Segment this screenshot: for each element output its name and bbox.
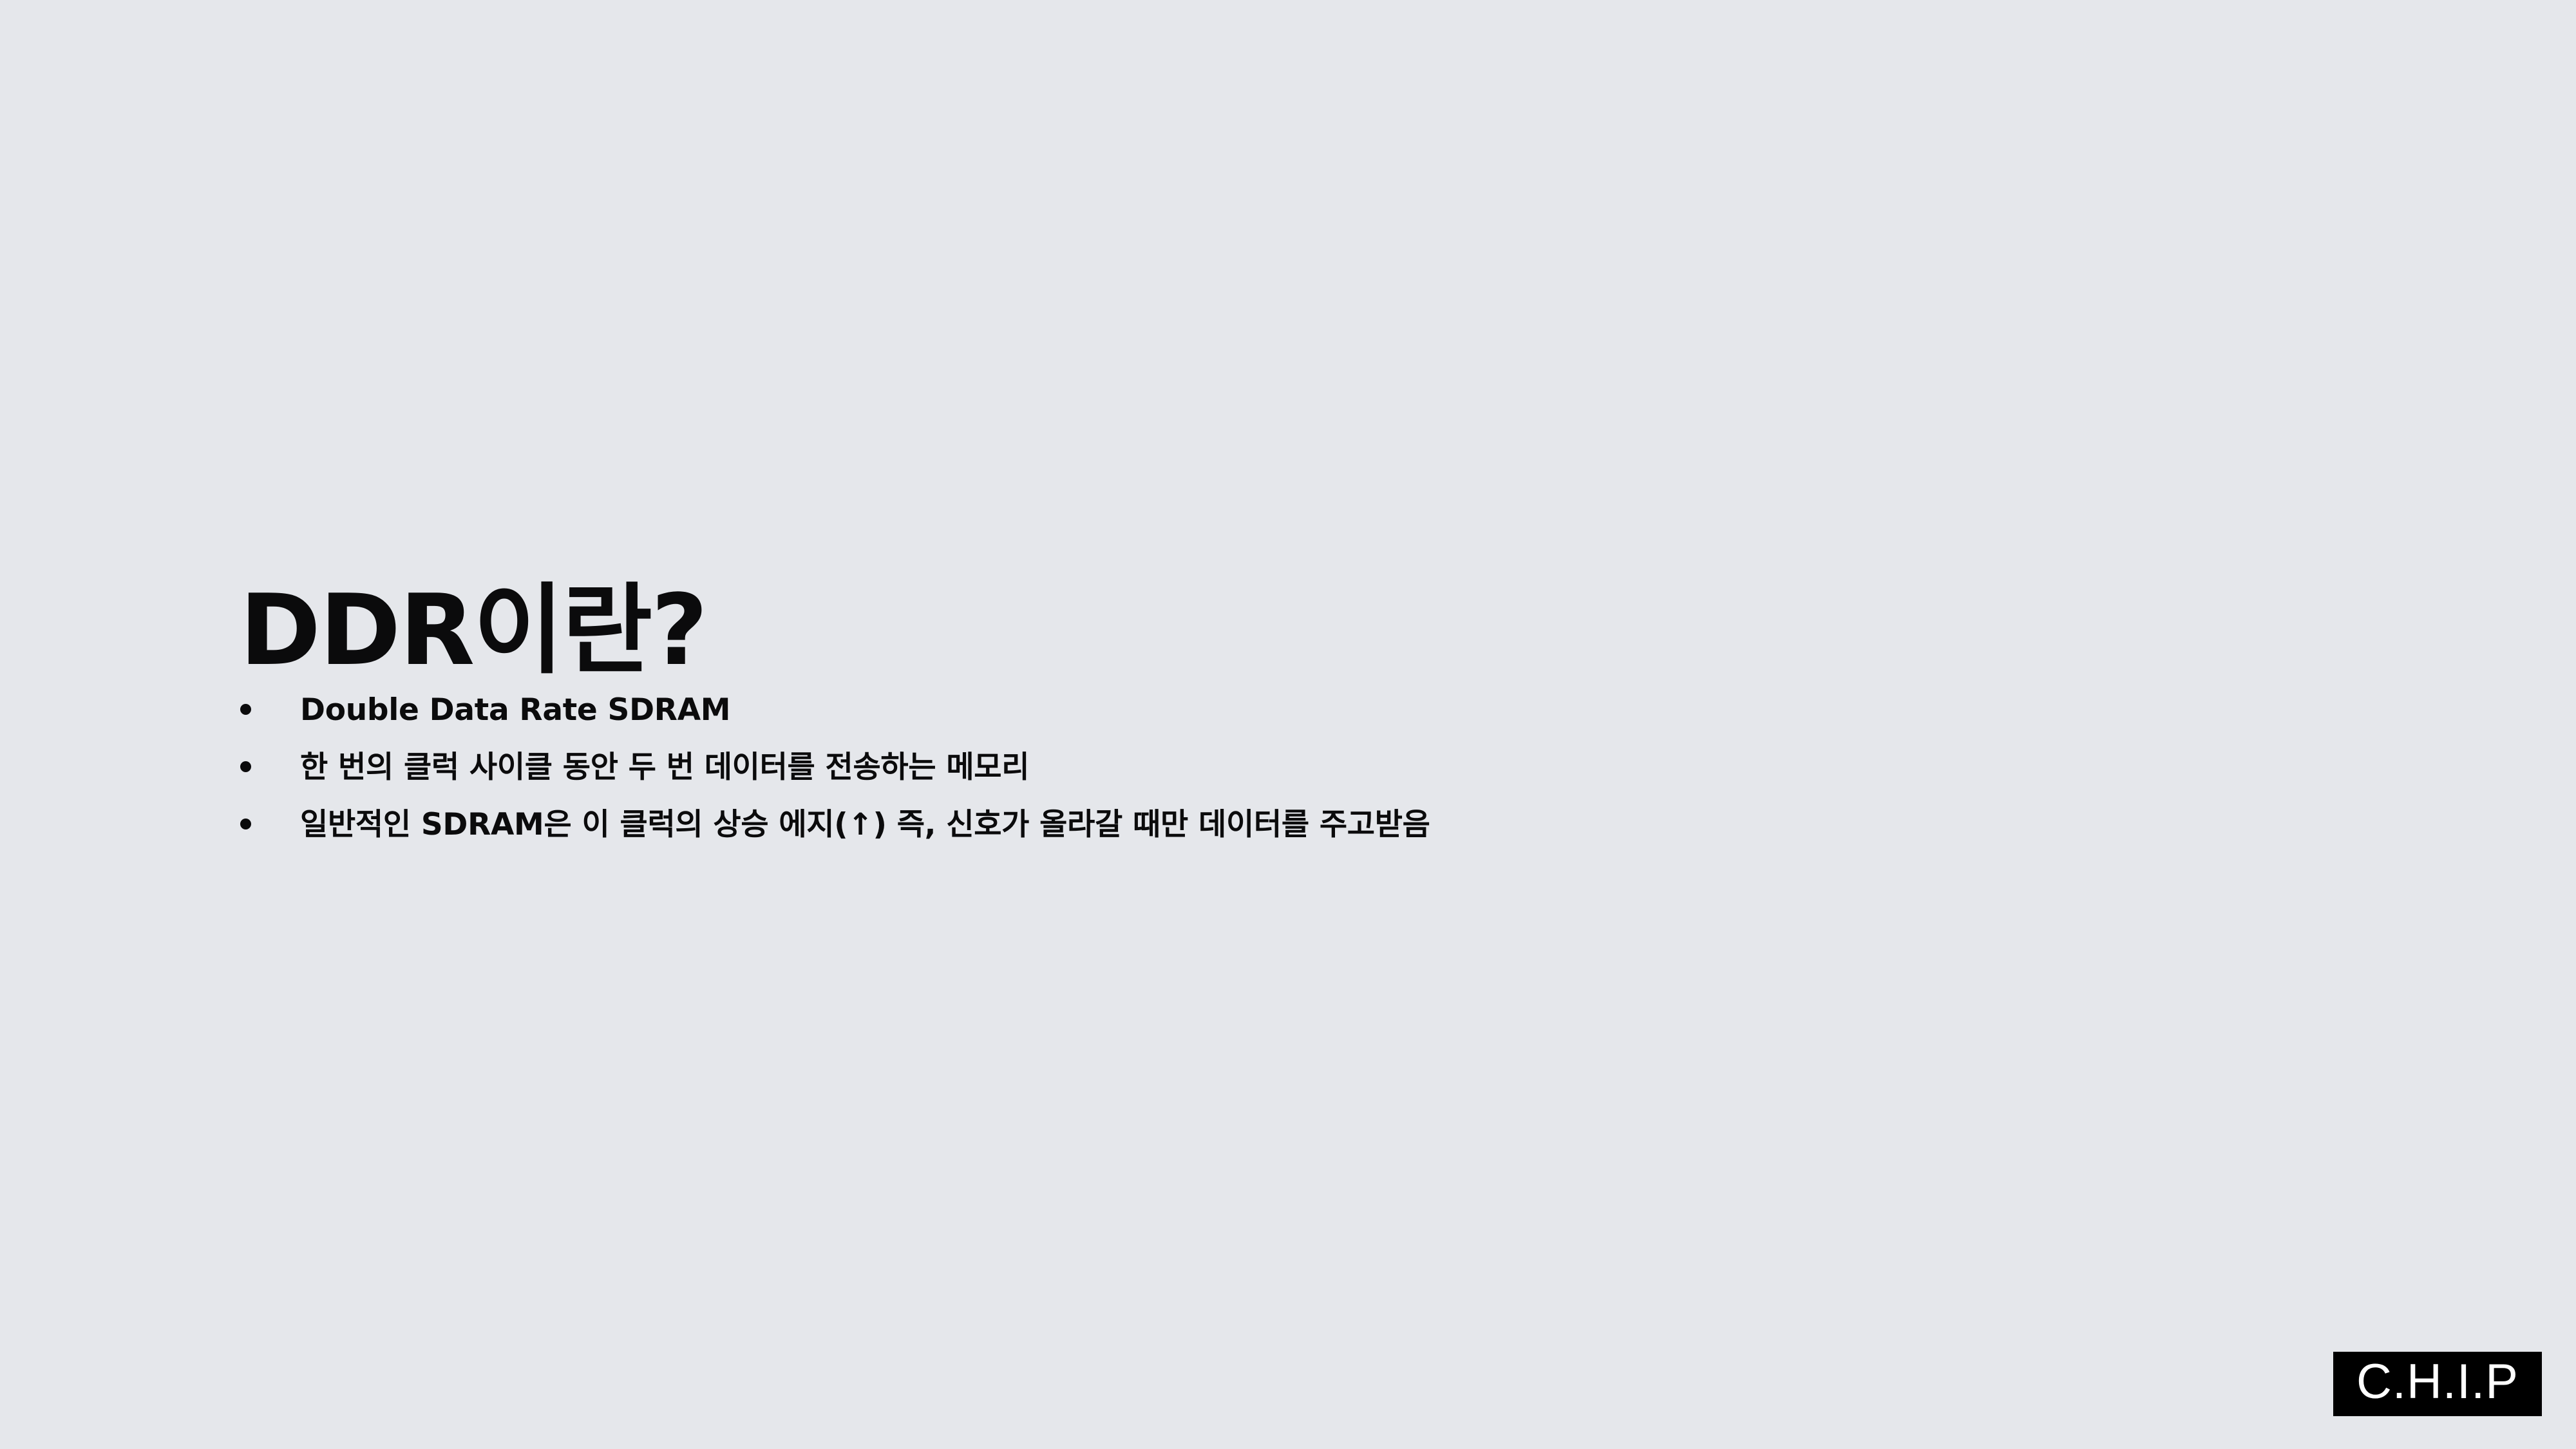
chip-logo-label: C.H.I.P [2356, 1358, 2519, 1406]
list-item: 한 번의 클럭 사이클 동안 두 번 데이터를 전송하는 메모리 [240, 739, 1430, 796]
slide-canvas: DDR이란? Double Data Rate SDRAM 한 번의 클럭 사이… [0, 0, 2576, 1449]
bullet-icon [240, 681, 300, 739]
bullet-list: Double Data Rate SDRAM 한 번의 클럭 사이클 동안 두 … [240, 681, 1430, 853]
bullet-icon [240, 796, 300, 853]
chip-logo: C.H.I.P [2333, 1352, 2542, 1416]
list-item: 일반적인 SDRAM은 이 클럭의 상승 에지(↑) 즉, 신호가 올라갈 때만… [240, 796, 1430, 853]
bullet-icon [240, 739, 300, 796]
list-item-label: 한 번의 클럭 사이클 동안 두 번 데이터를 전송하는 메모리 [300, 739, 1430, 796]
list-item-label: Double Data Rate SDRAM [300, 681, 1430, 739]
list-item: Double Data Rate SDRAM [240, 681, 1430, 739]
list-item-label: 일반적인 SDRAM은 이 클럭의 상승 에지(↑) 즉, 신호가 올라갈 때만… [300, 796, 1430, 853]
page-title: DDR이란? [240, 578, 706, 683]
